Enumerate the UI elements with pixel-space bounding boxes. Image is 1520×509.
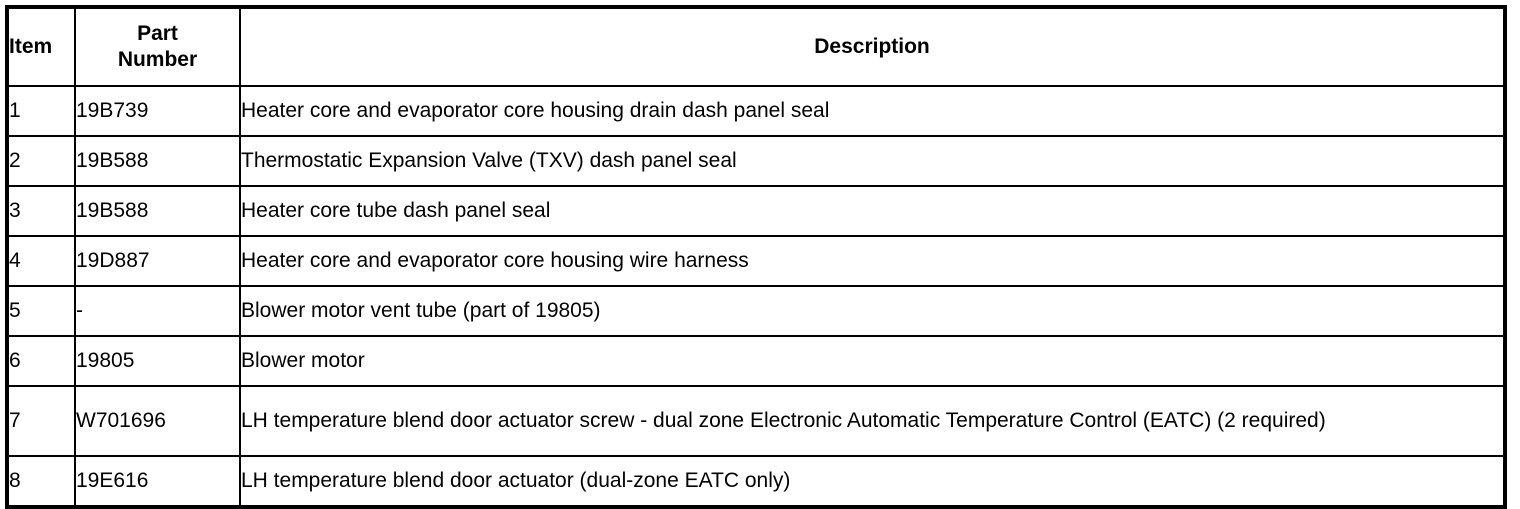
table-row: 4 19D887 Heater core and evaporator core… <box>7 236 1505 286</box>
parts-table-container: Item Part Number Description 1 19B739 He… <box>5 5 1507 500</box>
cell-item: 3 <box>7 186 75 236</box>
cell-item: 2 <box>7 136 75 186</box>
table-row: 6 19805 Blower motor <box>7 336 1505 386</box>
cell-description: Heater core and evaporator core housing … <box>240 236 1505 286</box>
column-header-part-number-line2: Number <box>76 47 239 73</box>
header-row: Item Part Number Description <box>7 7 1505 86</box>
cell-description: Blower motor vent tube (part of 19805) <box>240 286 1505 336</box>
cell-description: Thermostatic Expansion Valve (TXV) dash … <box>240 136 1505 186</box>
cell-description: Blower motor <box>240 336 1505 386</box>
table-row: 1 19B739 Heater core and evaporator core… <box>7 86 1505 136</box>
cell-part-number: - <box>75 286 240 336</box>
table-row: 7 W701696 LH temperature blend door actu… <box>7 386 1505 456</box>
cell-part-number: 19805 <box>75 336 240 386</box>
column-header-description: Description <box>240 7 1505 86</box>
table-row: 8 19E616 LH temperature blend door actua… <box>7 456 1505 507</box>
table-row: 5 - Blower motor vent tube (part of 1980… <box>7 286 1505 336</box>
table-header: Item Part Number Description <box>7 7 1505 86</box>
parts-table: Item Part Number Description 1 19B739 He… <box>5 5 1507 509</box>
column-header-item: Item <box>7 7 75 86</box>
cell-part-number: 19B588 <box>75 136 240 186</box>
column-header-part-number: Part Number <box>75 7 240 86</box>
cell-item: 4 <box>7 236 75 286</box>
column-header-part-number-line1: Part <box>76 21 239 47</box>
cell-part-number: 19B588 <box>75 186 240 236</box>
cell-item: 5 <box>7 286 75 336</box>
cell-part-number: 19D887 <box>75 236 240 286</box>
cell-item: 7 <box>7 386 75 456</box>
cell-item: 8 <box>7 456 75 507</box>
cell-description: Heater core and evaporator core housing … <box>240 86 1505 136</box>
cell-description: LH temperature blend door actuator (dual… <box>240 456 1505 507</box>
cell-description: LH temperature blend door actuator screw… <box>240 386 1505 456</box>
table-row: 3 19B588 Heater core tube dash panel sea… <box>7 186 1505 236</box>
cell-part-number: W701696 <box>75 386 240 456</box>
cell-description: Heater core tube dash panel seal <box>240 186 1505 236</box>
cell-part-number: 19B739 <box>75 86 240 136</box>
cell-item: 1 <box>7 86 75 136</box>
table-body: 1 19B739 Heater core and evaporator core… <box>7 86 1505 507</box>
cell-part-number: 19E616 <box>75 456 240 507</box>
table-row: 2 19B588 Thermostatic Expansion Valve (T… <box>7 136 1505 186</box>
cell-item: 6 <box>7 336 75 386</box>
